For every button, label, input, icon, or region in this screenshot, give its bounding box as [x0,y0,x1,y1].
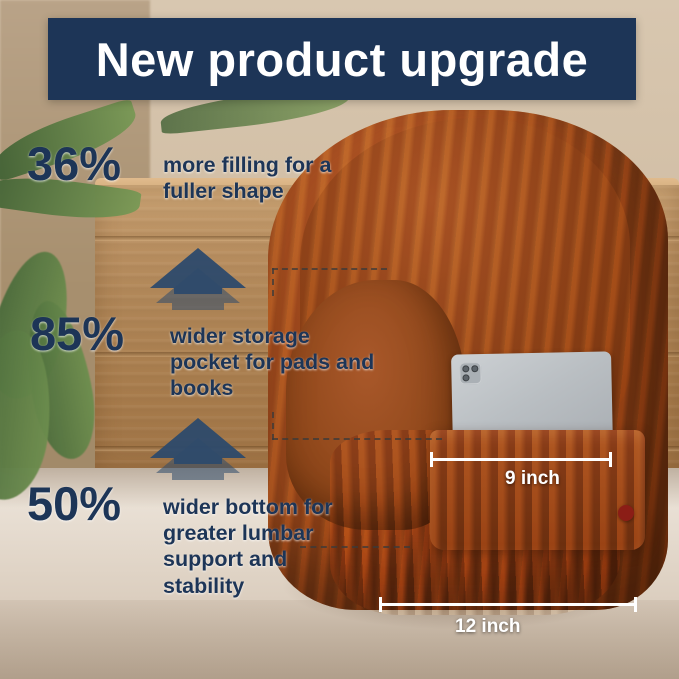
guide-line-middle-vertical [272,412,274,440]
product-infographic: 9 inch 12 inch New product upgrade 36% m… [0,0,679,679]
bottom-width-dimension [379,597,637,611]
storage-pocket-texture [430,430,645,550]
up-arrow-icon-2 [150,418,246,486]
callout-text-3: wider bottom for greater lumbar support … [163,494,363,599]
pocket-width-label: 9 inch [505,468,560,490]
callout-percent-2: 85% [30,310,124,357]
callout-percent-1: 36% [27,140,121,187]
callout-text-1: more filling for a fuller shape [163,152,378,204]
callout-percent-3: 50% [27,480,121,527]
guide-line-top-vertical [272,268,274,296]
dimension-cap-left [379,597,382,612]
callout-text-2: wider storage pocket for pads and books [170,323,380,402]
pocket-width-dimension [430,452,612,466]
tablet-camera-icon [459,362,481,384]
guide-line-middle [272,438,442,440]
dimension-bar [430,458,612,461]
dimension-cap-right [609,452,612,467]
page-title: New product upgrade [96,32,589,87]
dimension-cap-right [634,597,637,612]
guide-line-top [272,268,387,270]
title-banner: New product upgrade [48,18,636,100]
dimension-cap-left [430,452,433,467]
bottom-width-label: 12 inch [455,616,520,638]
dimension-bar [379,603,637,606]
up-arrow-icon-1 [150,248,246,316]
brand-tag [618,505,634,521]
